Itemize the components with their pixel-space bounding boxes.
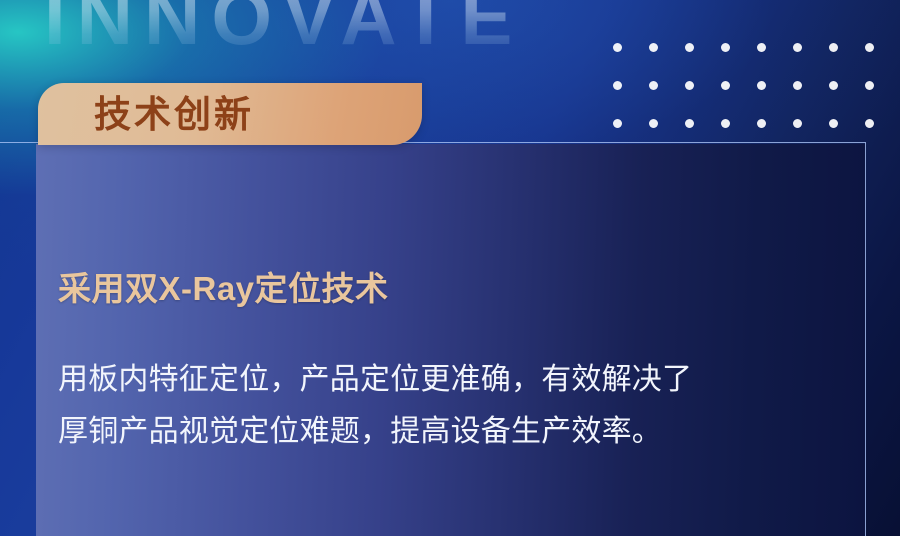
grid-dot	[721, 81, 730, 90]
section-title-banner: 技术创新	[38, 83, 422, 145]
grid-dot	[685, 43, 694, 52]
grid-dot	[757, 43, 766, 52]
grid-dot	[721, 119, 730, 128]
grid-dot	[793, 43, 802, 52]
content-paragraph: 用板内特征定位，产品定位更准确，有效解决了 厚铜产品视觉定位难题，提高设备生产效…	[58, 354, 878, 458]
grid-dot	[865, 119, 874, 128]
grid-dot	[613, 43, 622, 52]
content-panel-inner: 采用双X-Ray定位技术 用板内特征定位，产品定位更准确，有效解决了 厚铜产品视…	[58, 144, 866, 536]
grid-dot	[829, 43, 838, 52]
grid-dot	[685, 81, 694, 90]
grid-dot	[649, 119, 658, 128]
paragraph-line: 厚铜产品视觉定位难题，提高设备生产效率。	[58, 406, 878, 458]
grid-dot	[613, 119, 622, 128]
content-panel: 采用双X-Ray定位技术 用板内特征定位，产品定位更准确，有效解决了 厚铜产品视…	[36, 144, 866, 536]
section-title-label: 技术创新	[94, 96, 254, 133]
grid-dot	[649, 81, 658, 90]
grid-dot	[829, 81, 838, 90]
grid-dot	[865, 43, 874, 52]
grid-dot	[865, 81, 874, 90]
grid-dot	[613, 81, 622, 90]
grid-dot	[829, 119, 838, 128]
grid-dot	[757, 119, 766, 128]
background-word-innovate: INNOVATE	[44, 0, 523, 56]
grid-dot	[721, 43, 730, 52]
dot-grid-decoration	[613, 43, 900, 157]
grid-dot	[649, 43, 658, 52]
content-headline: 采用双X-Ray定位技术	[58, 272, 389, 305]
paragraph-line: 用板内特征定位，产品定位更准确，有效解决了	[58, 354, 878, 406]
grid-dot	[793, 119, 802, 128]
poster-canvas: INNOVATE 采用双X-Ray定位技术 用板内特征定位，产品定位更准确，有效…	[0, 0, 900, 536]
grid-dot	[757, 81, 766, 90]
grid-dot	[685, 119, 694, 128]
grid-dot	[793, 81, 802, 90]
